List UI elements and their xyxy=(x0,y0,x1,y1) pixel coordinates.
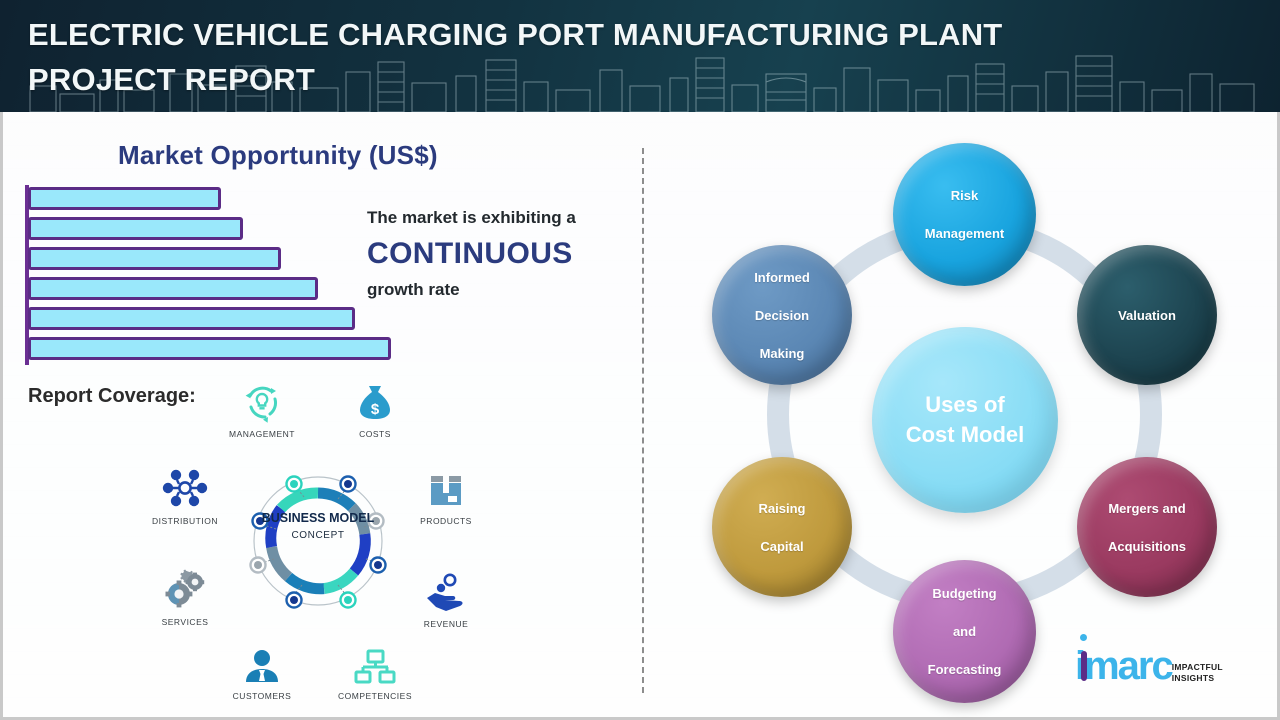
coverage-item-services: SERVICES xyxy=(125,566,245,627)
svg-text:$: $ xyxy=(371,401,380,418)
node-line: Capital xyxy=(753,537,812,556)
node-line: Valuation xyxy=(1112,306,1182,325)
bar-row xyxy=(28,277,318,300)
bar-row xyxy=(28,217,243,240)
gears-icon xyxy=(125,566,245,612)
coverage-label: COMPETENCIES xyxy=(315,691,435,701)
panel-divider xyxy=(642,148,644,693)
business-model-wheel: BUSINESS MODEL CONCEPT xyxy=(248,455,388,627)
node-line: Informed xyxy=(748,268,816,287)
logo-tagline-1: IMPACTFUL xyxy=(1172,662,1223,673)
node-line: and xyxy=(922,622,1008,641)
bar-row xyxy=(28,337,391,360)
network-nodes-icon xyxy=(125,465,245,511)
org-chart-icon xyxy=(315,640,435,686)
coverage-label: COSTS xyxy=(315,429,435,439)
node-informed-decision-making[interactable]: Informed Decision Making xyxy=(712,245,852,385)
market-opportunity-title: Market Opportunity (US$) xyxy=(118,140,438,171)
bar-row xyxy=(28,247,281,270)
coverage-item-competencies: COMPETENCIES xyxy=(315,640,435,701)
person-user-icon xyxy=(202,640,322,686)
coverage-item-customers: CUSTOMERS xyxy=(202,640,322,701)
node-budgeting-and-forecasting[interactable]: Budgeting and Forecasting xyxy=(893,560,1036,703)
coverage-item-revenue: REVENUE xyxy=(386,568,506,629)
coverage-label: DISTRIBUTION xyxy=(125,516,245,526)
coverage-item-management: MANAGEMENT xyxy=(202,378,322,439)
node-line: Forecasting xyxy=(922,660,1008,679)
coverage-item-costs: $ COSTS xyxy=(315,378,435,439)
bar-row xyxy=(28,307,355,330)
imarc-logo[interactable]: imarc IMPACTFUL INSIGHTS xyxy=(1075,648,1223,684)
wheel-center-label: BUSINESS MODEL CONCEPT xyxy=(248,511,388,543)
node-line: Budgeting xyxy=(922,584,1008,603)
coverage-label: REVENUE xyxy=(386,619,506,629)
coverage-label: MANAGEMENT xyxy=(202,429,322,439)
callout-line-1: The market is exhibiting a xyxy=(367,205,637,231)
node-line: Raising xyxy=(753,499,812,518)
market-opportunity-bar-chart xyxy=(25,185,425,365)
logo-wordmark: imarc xyxy=(1075,648,1172,684)
wheel-subtitle: CONCEPT xyxy=(248,528,388,543)
node-valuation[interactable]: Valuation xyxy=(1077,245,1217,385)
header-banner: ELECTRIC VEHICLE CHARGING PORT MANUFACTU… xyxy=(0,0,1280,112)
logo-separator xyxy=(1081,651,1087,681)
callout-emphasis: CONTINUOUS xyxy=(367,231,637,277)
node-line: Risk xyxy=(919,186,1010,205)
center-line-2: Cost Model xyxy=(906,422,1025,447)
coverage-label: SERVICES xyxy=(125,617,245,627)
market-callout: The market is exhibiting a CONTINUOUS gr… xyxy=(367,205,637,303)
box-package-icon xyxy=(386,465,506,511)
node-line: Mergers and xyxy=(1102,499,1192,518)
coverage-item-distribution: DISTRIBUTION xyxy=(125,465,245,526)
coverage-label: CUSTOMERS xyxy=(202,691,322,701)
logo-tagline-2: INSIGHTS xyxy=(1172,673,1223,684)
node-uses-of-cost-model[interactable]: Uses of Cost Model xyxy=(872,327,1058,513)
node-line: Acquisitions xyxy=(1102,537,1192,556)
wheel-title-line1: BUSINESS xyxy=(262,511,326,525)
left-border xyxy=(0,112,3,720)
report-coverage-title: Report Coverage: xyxy=(28,385,196,408)
node-raising-capital[interactable]: Raising Capital xyxy=(712,457,852,597)
coverage-label: PRODUCTS xyxy=(386,516,506,526)
node-line: Making xyxy=(748,344,816,363)
wheel-title-line2: MODEL xyxy=(329,511,374,525)
node-mergers-and-acquisitions[interactable]: Mergers and Acquisitions xyxy=(1077,457,1217,597)
node-risk-management[interactable]: Risk Management xyxy=(893,143,1036,286)
coverage-item-products: PRODUCTS xyxy=(386,465,506,526)
page-title: ELECTRIC VEHICLE CHARGING PORT MANUFACTU… xyxy=(28,12,1148,102)
recycle-bulb-icon xyxy=(202,378,322,424)
center-line-1: Uses of xyxy=(925,392,1004,417)
bar-row xyxy=(28,187,221,210)
hand-coins-icon xyxy=(386,568,506,614)
node-line: Decision xyxy=(748,306,816,325)
callout-line-3: growth rate xyxy=(367,277,637,303)
slide-root: ELECTRIC VEHICLE CHARGING PORT MANUFACTU… xyxy=(0,0,1280,720)
money-bag-icon: $ xyxy=(315,378,435,424)
logo-dot-icon xyxy=(1080,634,1087,641)
node-line: Management xyxy=(919,224,1010,243)
